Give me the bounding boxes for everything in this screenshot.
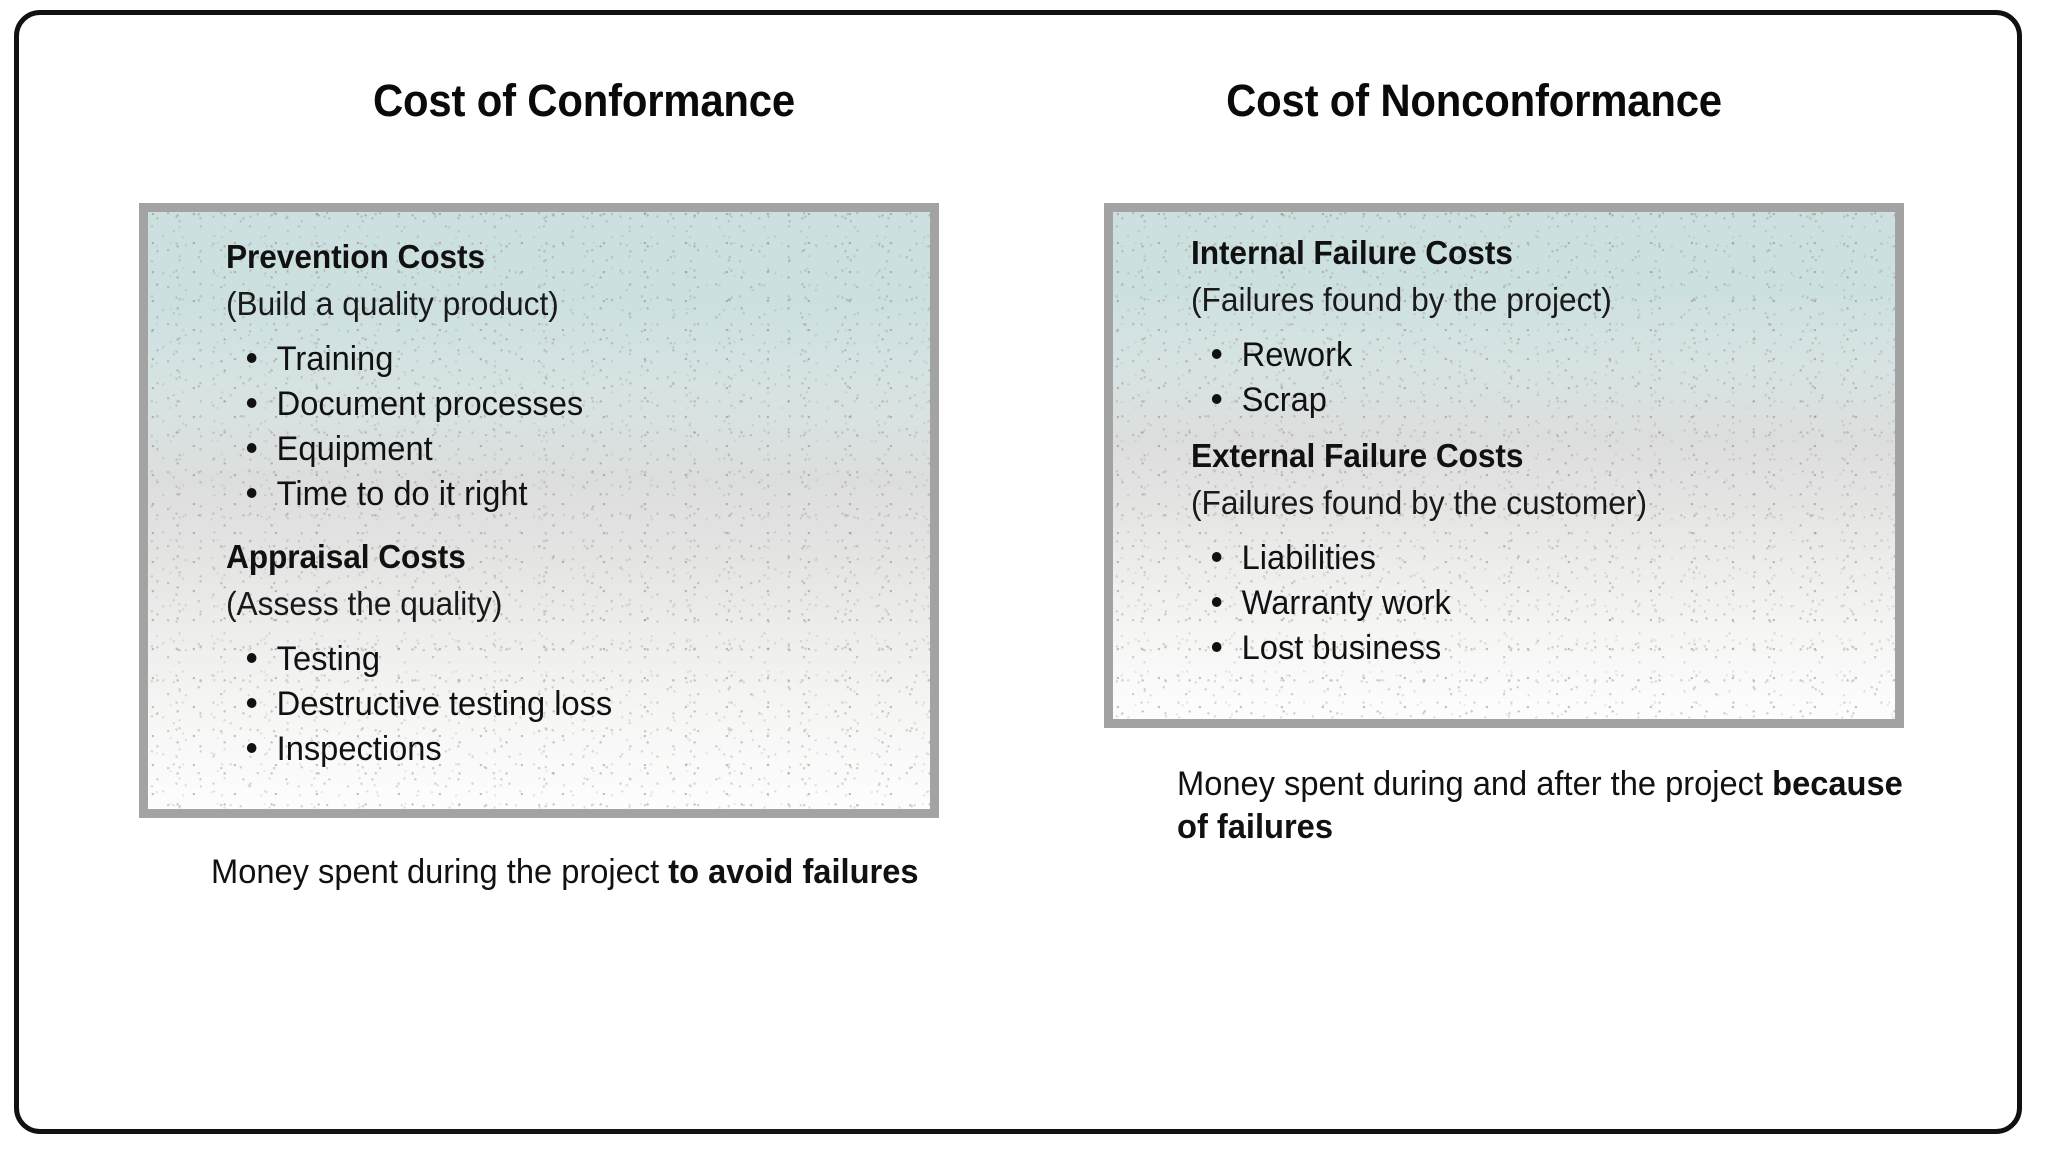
panel-nonconformance: Internal Failure Costs (Failures found b… <box>1104 203 1904 728</box>
group-external-failure-costs: External Failure Costs (Failures found b… <box>1191 437 1666 671</box>
list-item: Lost business <box>1209 626 1648 671</box>
columns-container: Cost of Conformance Prevention Costs (Bu… <box>19 15 2017 1129</box>
panel-conformance: Prevention Costs (Build a quality produc… <box>139 203 939 818</box>
list-item-label: Inspections <box>277 730 442 768</box>
caption-conformance-normal: Money spent during the project <box>211 853 668 891</box>
group-appraisal-costs: Appraisal Costs (Assess the quality) Tes… <box>226 538 628 772</box>
list-item: Rework <box>1209 333 1613 378</box>
list-item-label: Warranty work <box>1242 584 1451 622</box>
group-subtitle-appraisal-costs: (Assess the quality) <box>226 585 612 623</box>
list-item: Inspections <box>244 727 612 772</box>
bullet-list-external-failure-costs: Liabilities Warranty work Lost business <box>1191 536 1666 671</box>
bullet-dot-icon <box>247 488 257 498</box>
list-item: Liabilities <box>1209 536 1648 581</box>
bullet-dot-icon <box>247 398 257 408</box>
group-subtitle-external-failure-costs: (Failures found by the customer) <box>1191 484 1647 522</box>
list-item: Document processes <box>244 382 583 427</box>
bullet-list-appraisal-costs: Testing Destructive testing loss Inspect… <box>226 637 628 772</box>
list-item: Training <box>244 337 583 382</box>
list-item-label: Training <box>277 340 394 378</box>
column-title-nonconformance: Cost of Nonconformance <box>1060 75 1888 127</box>
bullet-list-internal-failure-costs: Rework Scrap <box>1191 333 1629 423</box>
list-item: Scrap <box>1209 378 1613 423</box>
bullet-dot-icon <box>247 743 257 753</box>
group-subtitle-prevention-costs: (Build a quality product) <box>226 285 583 323</box>
list-item-label: Rework <box>1242 336 1353 374</box>
group-internal-failure-costs: Internal Failure Costs (Failures found b… <box>1191 234 1629 423</box>
list-item-label: Equipment <box>277 430 433 468</box>
caption-nonconformance-normal: Money spent during and after the project <box>1177 765 1772 803</box>
bullet-dot-icon <box>1212 394 1222 404</box>
list-item-label: Liabilities <box>1242 539 1376 577</box>
caption-nonconformance: Money spent during and after the project… <box>1177 763 1926 848</box>
bullet-dot-icon <box>247 443 257 453</box>
list-item: Destructive testing loss <box>244 682 612 727</box>
diagram-frame: Cost of Conformance Prevention Costs (Bu… <box>14 10 2022 1134</box>
bullet-dot-icon <box>1212 642 1222 652</box>
list-item-label: Testing <box>277 640 380 678</box>
group-heading-external-failure-costs: External Failure Costs <box>1191 437 1647 475</box>
bullet-dot-icon <box>1212 552 1222 562</box>
list-item: Time to do it right <box>244 472 583 517</box>
list-item: Equipment <box>244 427 583 472</box>
bullet-dot-icon <box>247 653 257 663</box>
list-item-label: Lost business <box>1242 629 1442 667</box>
group-subtitle-internal-failure-costs: (Failures found by the project) <box>1191 281 1612 319</box>
list-item: Testing <box>244 637 612 682</box>
group-prevention-costs: Prevention Costs (Build a quality produc… <box>226 238 597 517</box>
bullet-list-prevention-costs: Training Document processes Equipment Ti… <box>226 337 597 517</box>
caption-conformance: Money spent during the project to avoid … <box>211 851 960 894</box>
bullet-dot-icon <box>1212 597 1222 607</box>
group-heading-prevention-costs: Prevention Costs <box>226 238 583 276</box>
list-item-label: Time to do it right <box>277 475 528 513</box>
caption-conformance-bold: to avoid failures <box>668 853 918 891</box>
column-title-conformance: Cost of Conformance <box>170 75 998 127</box>
bullet-dot-icon <box>1212 349 1222 359</box>
list-item-label: Destructive testing loss <box>277 685 613 723</box>
group-heading-internal-failure-costs: Internal Failure Costs <box>1191 234 1612 272</box>
list-item-label: Document processes <box>277 385 584 423</box>
bullet-dot-icon <box>247 698 257 708</box>
bullet-dot-icon <box>247 353 257 363</box>
group-heading-appraisal-costs: Appraisal Costs <box>226 538 612 576</box>
list-item: Warranty work <box>1209 581 1648 626</box>
list-item-label: Scrap <box>1242 381 1327 419</box>
